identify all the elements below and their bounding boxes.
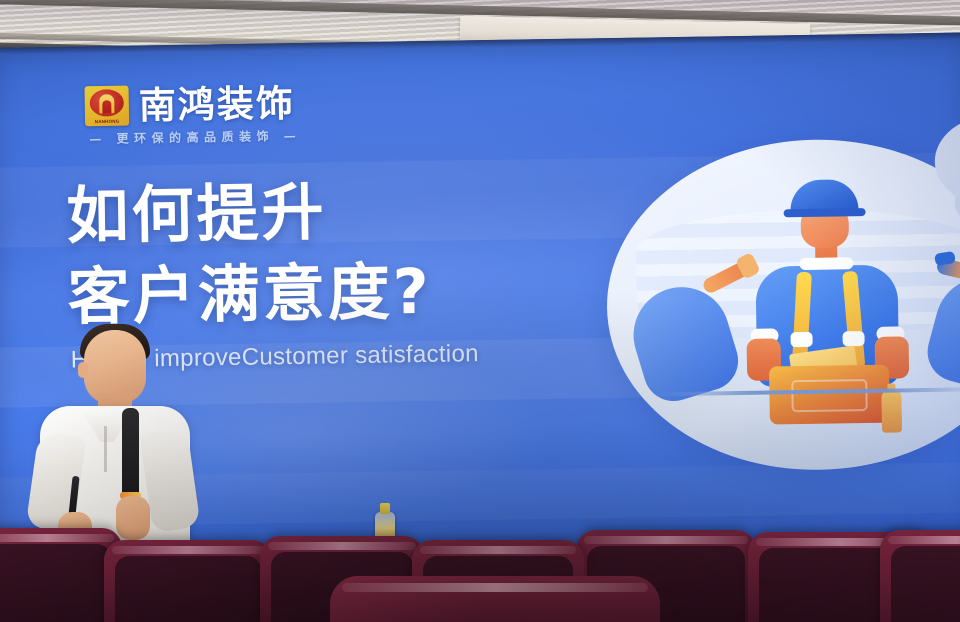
presenter-head — [84, 330, 146, 404]
auditorium-seat-front-row — [330, 576, 660, 622]
audience-seating — [0, 492, 960, 622]
presenter-ear — [78, 362, 88, 378]
auditorium-seat — [104, 540, 272, 622]
auditorium-seat — [880, 530, 960, 622]
presenter-shirt-placket — [104, 426, 107, 472]
conference-photo: NANHONG NANHONG 南鸿装饰 — 更环保的高品质装饰 — 如何提升 … — [0, 0, 960, 622]
